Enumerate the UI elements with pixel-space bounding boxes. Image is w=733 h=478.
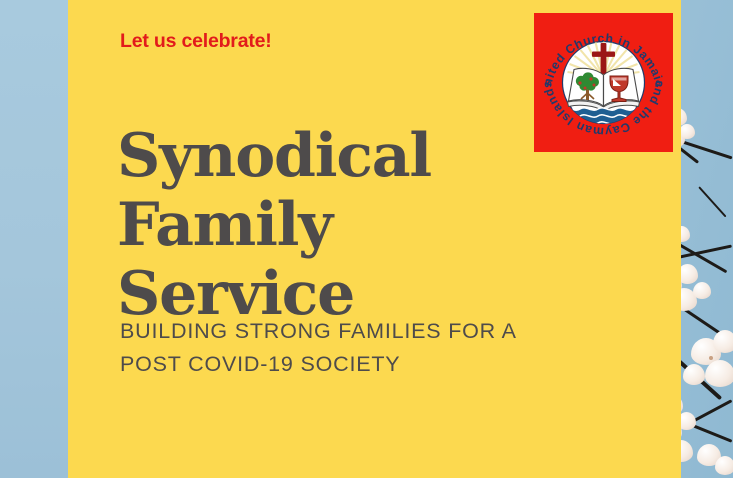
church-logo-graphic: United Church in Jamaica and the Cayman … [534, 13, 673, 152]
sky-left-strip [0, 0, 70, 478]
open-book-icon [568, 68, 640, 111]
page-subtitle-line-1: BUILDING STRONG FAMILIES FOR A [120, 315, 590, 348]
eyebrow-text: Let us celebrate! [120, 30, 272, 53]
page-subtitle: BUILDING STRONG FAMILIES FOR A POST COVI… [120, 315, 590, 381]
yellow-card-panel: Let us celebrate! Synodical Family Servi… [68, 0, 681, 478]
poster-canvas: Let us celebrate! Synodical Family Servi… [0, 0, 733, 478]
page-title-line-1: Synodical [117, 122, 547, 191]
page-subtitle-line-2: POST COVID-19 SOCIETY [120, 348, 590, 381]
page-title: Synodical Family Service [117, 122, 547, 329]
page-title-line-2: Family [117, 191, 547, 260]
church-logo: United Church in Jamaica and the Cayman … [534, 13, 673, 152]
